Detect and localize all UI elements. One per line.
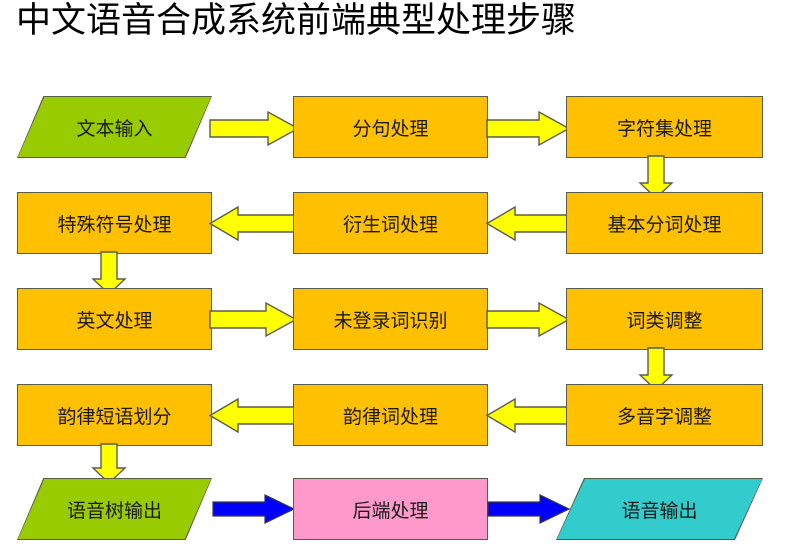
node-polyphone-adjustment[interactable]: 多音字调整 — [566, 384, 763, 446]
node-special-symbol-processing[interactable]: 特殊符号处理 — [17, 192, 212, 254]
node-label: 多音字调整 — [617, 402, 712, 429]
node-label: 韵律短语划分 — [57, 402, 171, 429]
node-basic-word-segmentation[interactable]: 基本分词处理 — [566, 192, 763, 254]
node-label: 韵律词处理 — [343, 402, 438, 429]
node-label: 英文处理 — [76, 306, 152, 333]
node-text-input[interactable]: 文本输入 — [17, 96, 212, 158]
flowchart-canvas: 中文语音合成系统前端典型处理步骤 文本输入 分句处理 字符集处理 特殊符号处理 — [0, 0, 800, 553]
node-label: 语音树输出 — [17, 478, 212, 540]
node-label: 后端处理 — [352, 496, 428, 523]
node-unknown-word-recognition[interactable]: 未登录词识别 — [293, 288, 488, 350]
node-charset-processing[interactable]: 字符集处理 — [566, 96, 763, 158]
node-label: 字符集处理 — [617, 114, 712, 141]
arrow-polyphone-to-prosodic-word — [485, 397, 570, 434]
node-pos-adjustment[interactable]: 词类调整 — [566, 288, 763, 350]
node-label: 衍生词处理 — [343, 210, 438, 237]
node-english-processing[interactable]: 英文处理 — [17, 288, 212, 350]
arrow-unknown-word-to-pos — [485, 301, 571, 338]
arrow-tree-output-to-backend — [211, 492, 297, 526]
node-speech-output[interactable]: 语音输出 — [556, 478, 763, 540]
node-label: 文本输入 — [17, 96, 212, 158]
node-phonetic-tree-output[interactable]: 语音树输出 — [17, 478, 212, 540]
node-prosodic-word-processing[interactable]: 韵律词处理 — [293, 384, 488, 446]
arrow-basic-seg-to-derived — [485, 205, 570, 242]
node-label: 分句处理 — [352, 114, 428, 141]
node-backend-processing[interactable]: 后端处理 — [293, 478, 488, 540]
arrow-prosodic-word-to-phrase — [208, 397, 298, 434]
arrow-sentence-to-charset — [485, 110, 571, 147]
node-derived-word-processing[interactable]: 衍生词处理 — [293, 192, 488, 254]
arrow-english-to-unknown-word — [208, 301, 298, 338]
node-label: 语音输出 — [556, 478, 763, 540]
arrow-text-input-to-sentence — [208, 110, 300, 147]
node-label: 特殊符号处理 — [57, 210, 171, 237]
node-label: 未登录词识别 — [333, 306, 447, 333]
node-label: 词类调整 — [626, 306, 702, 333]
node-prosodic-phrase-division[interactable]: 韵律短语划分 — [17, 384, 212, 446]
arrow-derived-to-special-symbol — [208, 205, 298, 242]
node-label: 基本分词处理 — [607, 210, 721, 237]
page-title: 中文语音合成系统前端典型处理步骤 — [16, 0, 576, 44]
node-sentence-segmentation[interactable]: 分句处理 — [293, 96, 488, 158]
